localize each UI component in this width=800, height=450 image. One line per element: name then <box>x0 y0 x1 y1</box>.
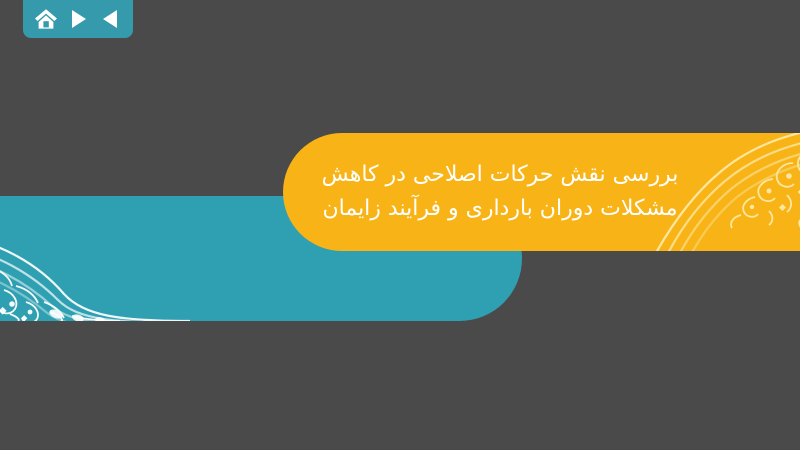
home-icon <box>34 8 58 30</box>
triangle-right-icon <box>69 9 87 29</box>
orange-arabesque-ornament <box>653 133 800 251</box>
triangle-left-icon <box>101 9 119 29</box>
previous-slide-button[interactable] <box>96 5 124 33</box>
presentation-slide: بررسی نقش حرکات اصلاحی در کاهش مشکلات دو… <box>0 0 800 450</box>
next-slide-button[interactable] <box>64 5 92 33</box>
home-button[interactable] <box>32 5 60 33</box>
slide-navigation-bar <box>23 0 133 38</box>
teal-arabesque-ornament <box>0 196 190 321</box>
orange-band-shape <box>283 133 800 251</box>
